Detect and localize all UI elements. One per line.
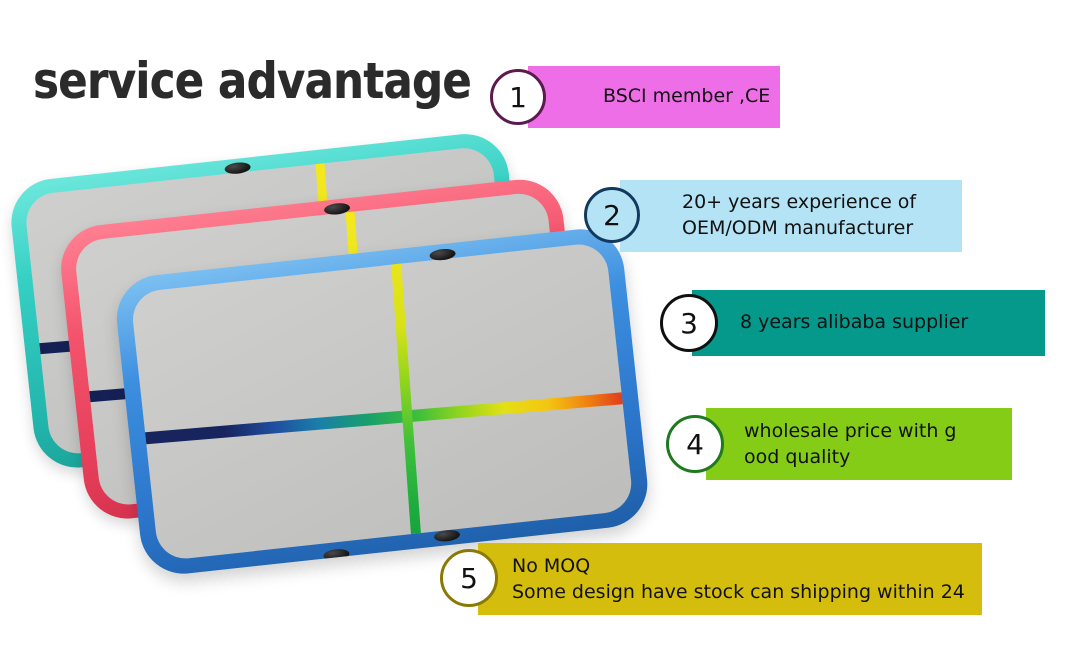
feature-item-1[interactable]: 1 BSCI member ,CE xyxy=(490,66,790,128)
blue-mat-vertical-stripe xyxy=(391,256,422,546)
blue-mat-surface xyxy=(130,241,634,561)
feature-5-text: No MOQ Some design have stock can shippi… xyxy=(512,553,965,605)
service-advantage-banner: service advantage xyxy=(0,0,1067,667)
page-title: service advantage xyxy=(33,52,471,110)
blue-mat-rainbow-stripe xyxy=(139,391,634,445)
feature-item-4[interactable]: 4 wholesale price with g ood quality xyxy=(666,408,1021,480)
feature-1-text: BSCI member ,CE xyxy=(603,83,770,109)
feature-4-text: wholesale price with g ood quality xyxy=(744,418,956,470)
feature-1-number-badge: 1 xyxy=(490,69,546,125)
feature-2-number-badge: 2 xyxy=(584,187,640,243)
blue-mat-valve-bottom-left xyxy=(323,548,350,562)
feature-3-text: 8 years alibaba supplier xyxy=(740,309,968,335)
feature-2-text: 20+ years experience of OEM/ODM manufact… xyxy=(682,189,916,241)
feature-item-3[interactable]: 3 8 years alibaba supplier xyxy=(660,290,1050,356)
feature-5-number-badge: 5 xyxy=(440,549,498,607)
feature-item-2[interactable]: 2 20+ years experience of OEM/ODM manufa… xyxy=(584,180,964,252)
blue-air-track-mat xyxy=(112,225,651,578)
feature-3-number-badge: 3 xyxy=(660,294,718,352)
feature-4-number-badge: 4 xyxy=(666,415,724,473)
feature-item-5[interactable]: 5 No MOQ Some design have stock can ship… xyxy=(440,543,990,615)
